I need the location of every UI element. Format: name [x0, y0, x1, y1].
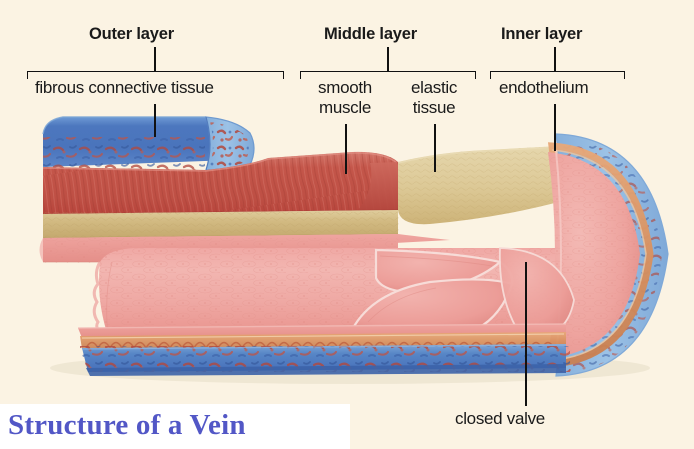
- vein-illustration: [0, 0, 694, 449]
- middle-layer-heading: Middle layer: [324, 25, 417, 44]
- inner-layer-tick: [554, 47, 556, 71]
- layer-bottom-wall: [78, 324, 570, 376]
- vein-diagram-figure: Outer layer fibrous connective tissue Mi…: [0, 0, 694, 449]
- outer-layer-leader: [154, 104, 156, 137]
- elastic-tissue-line1: elastic: [411, 78, 457, 97]
- outer-layer-heading: Outer layer: [89, 25, 174, 44]
- outer-layer-tick: [154, 47, 156, 71]
- middle-layer-tick: [387, 47, 389, 71]
- endothelium-leader: [554, 104, 556, 151]
- smooth-muscle-sublabel: smooth muscle: [308, 78, 382, 118]
- outer-layer-sublabel: fibrous connective tissue: [35, 78, 214, 98]
- closed-valve-label: closed valve: [455, 409, 545, 429]
- inner-layer-heading: Inner layer: [501, 25, 582, 44]
- elastic-tissue-sublabel: elastic tissue: [398, 78, 470, 118]
- endothelium-sublabel: endothelium: [499, 78, 588, 98]
- elastic-tissue-line2: tissue: [413, 98, 456, 117]
- closed-valve-leader: [525, 262, 527, 406]
- page-title: Structure of a Vein: [8, 409, 246, 442]
- elastic-tissue-leader: [434, 124, 436, 172]
- layer-fibrous-connective-top: [43, 117, 254, 172]
- smooth-muscle-line2: muscle: [319, 98, 371, 117]
- smooth-muscle-line1: smooth: [318, 78, 372, 97]
- smooth-muscle-leader: [345, 124, 347, 174]
- vessel-rounded-end: [548, 134, 676, 378]
